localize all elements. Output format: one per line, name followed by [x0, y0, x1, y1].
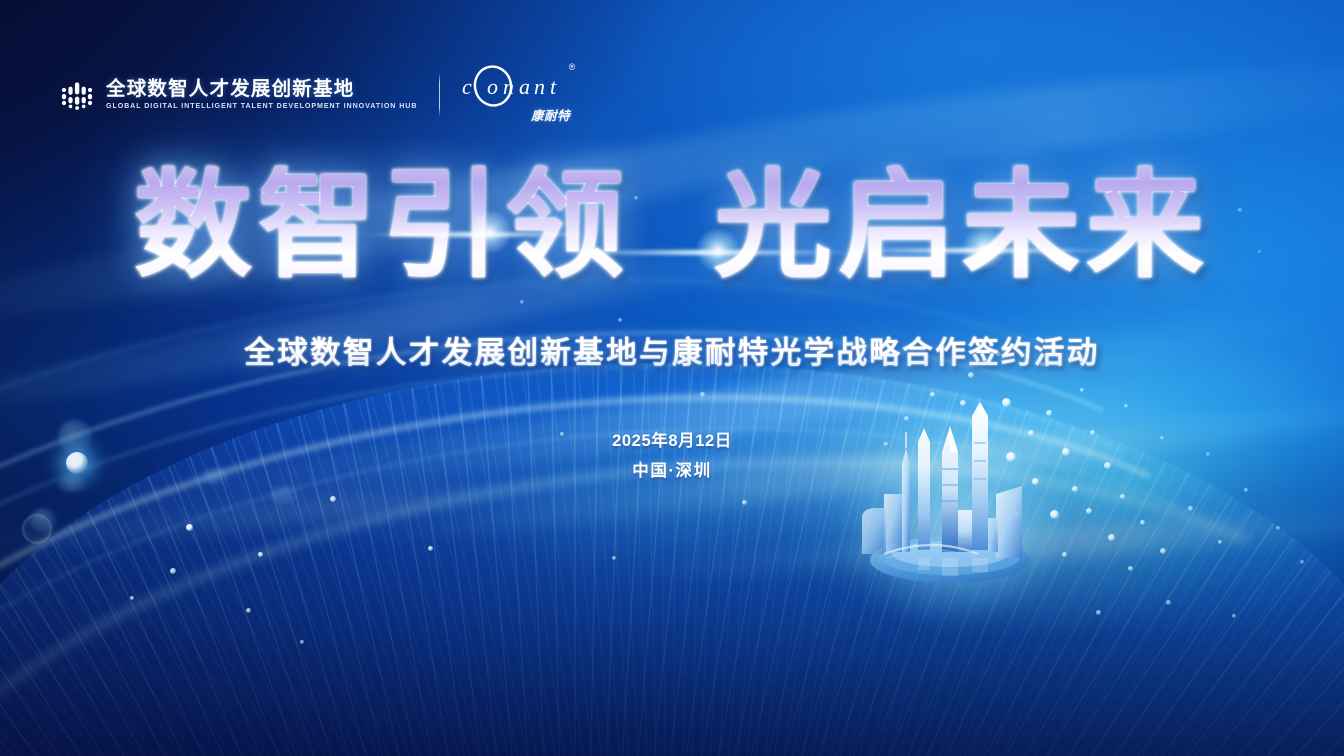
event-keyvisual-poster: 全球数智人才发展创新基地 GLOBAL DIGITAL INTELLIGENT …	[0, 0, 1344, 756]
base-logo[interactable]: 全球数智人才发展创新基地 GLOBAL DIGITAL INTELLIGENT …	[60, 78, 417, 112]
svg-text:o: o	[487, 74, 498, 99]
registered-trademark-icon: ®	[569, 63, 576, 72]
event-meta: 2025年8月12日 中国·深圳	[0, 432, 1344, 480]
conant-logo[interactable]: c o n a n t ® 康耐特	[462, 66, 566, 124]
event-location: 中国·深圳	[0, 462, 1344, 480]
hero-headline: 数智引领 光启未来	[0, 166, 1344, 286]
event-date: 2025年8月12日	[0, 432, 1344, 450]
headline-part-2: 光启未来	[714, 166, 1210, 286]
hero-subtitle: 全球数智人才发展创新基地与康耐特光学战略合作签约活动	[0, 328, 1344, 372]
header-logo-bar: 全球数智人才发展创新基地 GLOBAL DIGITAL INTELLIGENT …	[60, 64, 566, 126]
city-skyline-illustration	[846, 398, 1058, 596]
svg-text:c: c	[462, 74, 472, 99]
base-name-en: GLOBAL DIGITAL INTELLIGENT TALENT DEVELO…	[106, 103, 417, 110]
svg-text:t: t	[550, 74, 557, 99]
base-logo-text: 全球数智人才发展创新基地 GLOBAL DIGITAL INTELLIGENT …	[106, 80, 417, 110]
svg-text:a: a	[519, 74, 530, 99]
svg-text:n: n	[503, 74, 514, 99]
headline-part-1: 数智引领	[134, 166, 630, 286]
conant-wordmark-svg: c o n a n t	[462, 66, 566, 112]
logo-divider	[439, 73, 440, 117]
waveform-dots-icon	[60, 78, 94, 112]
conant-name-cn: 康耐特	[531, 110, 570, 123]
base-name-cn: 全球数智人才发展创新基地	[106, 80, 417, 100]
svg-text:n: n	[534, 74, 545, 99]
city-svg	[846, 398, 1058, 596]
